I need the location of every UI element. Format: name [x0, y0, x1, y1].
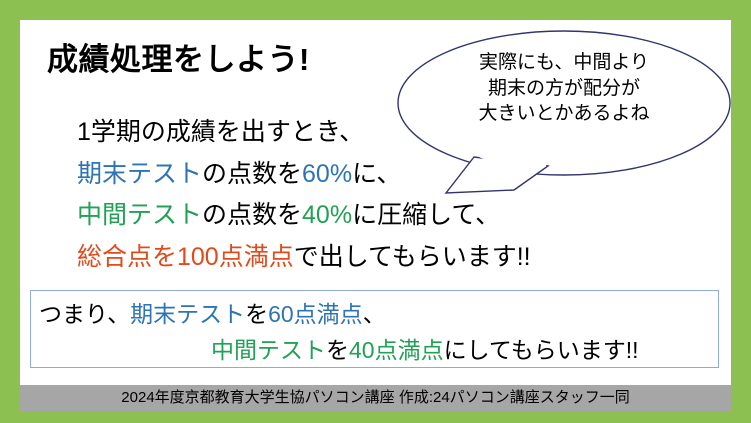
body-line-1: 1学期の成績を出すとき、 [77, 112, 531, 154]
footer-bar: 2024年度京都教育大学生協パソコン講座 作成:24パソコン講座スタッフ一同 [20, 385, 731, 411]
conclusion-final-label: 期末テスト [130, 301, 245, 327]
conclusion-box: つまり、期末テストを60点満点、 中間テストを40点満点にしてもらいます!! [30, 290, 719, 368]
body-line-3-end: に圧縮して、 [352, 201, 500, 229]
body-line-3-mid: の点数を [202, 201, 302, 229]
body-line-2-end: に、 [352, 160, 401, 188]
conclusion-line-2: 中間テストを40点満点にしてもらいます!! [211, 331, 639, 365]
body-line-4-end: で出してもらいます!! [294, 243, 531, 271]
body-line-3: 中間テストの点数を40%に圧縮して、 [77, 195, 531, 237]
conclusion-comma: 、 [363, 301, 386, 327]
page-title: 成績処理をしよう! [47, 34, 310, 79]
speech-bubble-line-1: 実際にも、中間より [396, 50, 732, 76]
total-score-label: 総合点を100点満点 [77, 243, 294, 271]
conclusion-line-1: つまり、期末テストを60点満点、 [39, 295, 386, 329]
speech-bubble-line-2: 期末の方が配分が [396, 76, 732, 102]
conclusion-final-score: 60点満点 [268, 301, 363, 327]
conclusion-midterm-score: 40点満点 [349, 337, 444, 363]
body-line-1-text: 1学期の成績を出すとき、 [77, 118, 364, 146]
midterm-exam-percent: 40% [302, 201, 352, 229]
body-line-4: 総合点を100点満点で出してもらいます!! [77, 237, 531, 279]
main-body-text: 1学期の成績を出すとき、 期末テストの点数を60%に、 中間テストの点数を40%… [77, 112, 531, 278]
conclusion-wo-2: を [326, 337, 349, 363]
conclusion-suffix: にしてもらいます!! [444, 337, 639, 363]
final-exam-percent: 60% [302, 160, 352, 188]
footer-text: 2024年度京都教育大学生協パソコン講座 作成:24パソコン講座スタッフ一同 [20, 385, 731, 411]
conclusion-wo-1: を [245, 301, 268, 327]
slide-root: 成績処理をしよう! 実際にも、中間より 期末の方が配分が 大きいとかあるよね 1… [0, 0, 751, 423]
conclusion-prefix: つまり、 [39, 301, 130, 327]
final-exam-label: 期末テスト [77, 160, 202, 188]
body-line-2-mid: の点数を [202, 160, 302, 188]
conclusion-midterm-label: 中間テスト [211, 337, 326, 363]
body-line-2: 期末テストの点数を60%に、 [77, 154, 531, 196]
midterm-exam-label: 中間テスト [77, 201, 202, 229]
